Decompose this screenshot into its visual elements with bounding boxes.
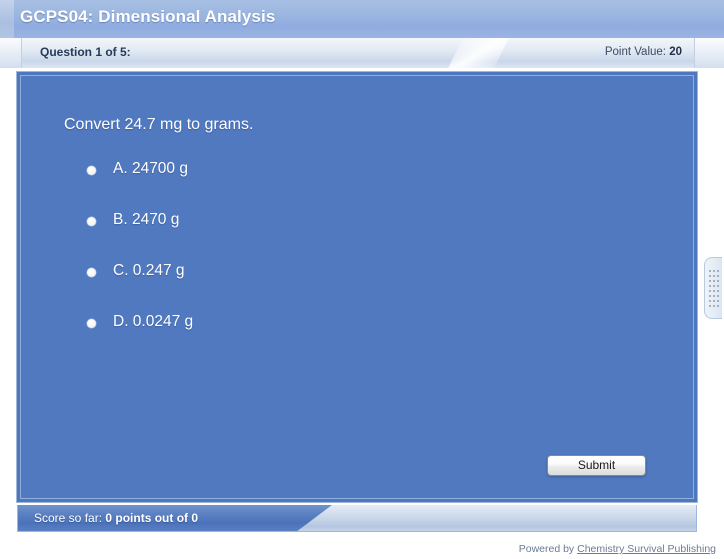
- score-value: 0 points out of 0: [105, 511, 198, 525]
- radio-bullet-icon[interactable]: [87, 166, 96, 175]
- title-bar-left-cap: [0, 0, 14, 38]
- answer-choice-label: B. 2470 g: [113, 212, 179, 228]
- status-bar-right-cap: [694, 38, 724, 68]
- publisher-link[interactable]: Chemistry Survival Publishing: [577, 543, 716, 555]
- answer-choice-list: A. 24700 g B. 2470 g C. 0.247 g D. 0.024…: [87, 161, 587, 365]
- answer-choice-b[interactable]: B. 2470 g: [87, 212, 587, 263]
- radio-bullet-icon[interactable]: [87, 268, 96, 277]
- powered-by-label: Powered by: [519, 543, 574, 555]
- point-value-label: Point Value:: [605, 46, 666, 58]
- answer-choice-a[interactable]: A. 24700 g: [87, 161, 587, 212]
- submit-button[interactable]: Submit: [547, 455, 646, 476]
- status-bar-sheen-decoration: [445, 38, 511, 68]
- score-bar: Score so far: 0 points out of 0: [17, 505, 697, 532]
- answer-choice-label: A. 24700 g: [113, 161, 188, 177]
- question-panel-inner: Convert 24.7 mg to grams. A. 24700 g B. …: [20, 75, 694, 499]
- question-text: Convert 24.7 mg to grams.: [64, 116, 253, 134]
- point-value-number: 20: [669, 46, 682, 58]
- score-bar-fade-decoration: [296, 505, 697, 532]
- status-bar: Question 1 of 5: Point Value: 20: [0, 38, 724, 68]
- answer-choice-d[interactable]: D. 0.0247 g: [87, 314, 587, 365]
- resize-grip-handle[interactable]: [704, 257, 722, 319]
- quiz-application: GCPS04: Dimensional Analysis Question 1 …: [0, 0, 724, 559]
- page-title: GCPS04: Dimensional Analysis: [20, 7, 275, 27]
- point-value: Point Value: 20: [605, 46, 682, 58]
- status-bar-left-cap: [0, 38, 22, 68]
- answer-choice-label: D. 0.0247 g: [113, 314, 193, 330]
- question-panel: Convert 24.7 mg to grams. A. 24700 g B. …: [17, 72, 697, 502]
- title-bar: GCPS04: Dimensional Analysis: [0, 0, 724, 38]
- grip-dots-icon: [709, 270, 720, 308]
- score-status: Score so far: 0 points out of 0: [34, 511, 198, 525]
- score-label: Score so far:: [34, 511, 102, 525]
- question-counter: Question 1 of 5:: [40, 45, 131, 59]
- answer-choice-c[interactable]: C. 0.247 g: [87, 263, 587, 314]
- answer-choice-label: C. 0.247 g: [113, 263, 185, 279]
- footer: Powered by Chemistry Survival Publishing: [519, 543, 716, 555]
- radio-bullet-icon[interactable]: [87, 217, 96, 226]
- radio-bullet-icon[interactable]: [87, 319, 96, 328]
